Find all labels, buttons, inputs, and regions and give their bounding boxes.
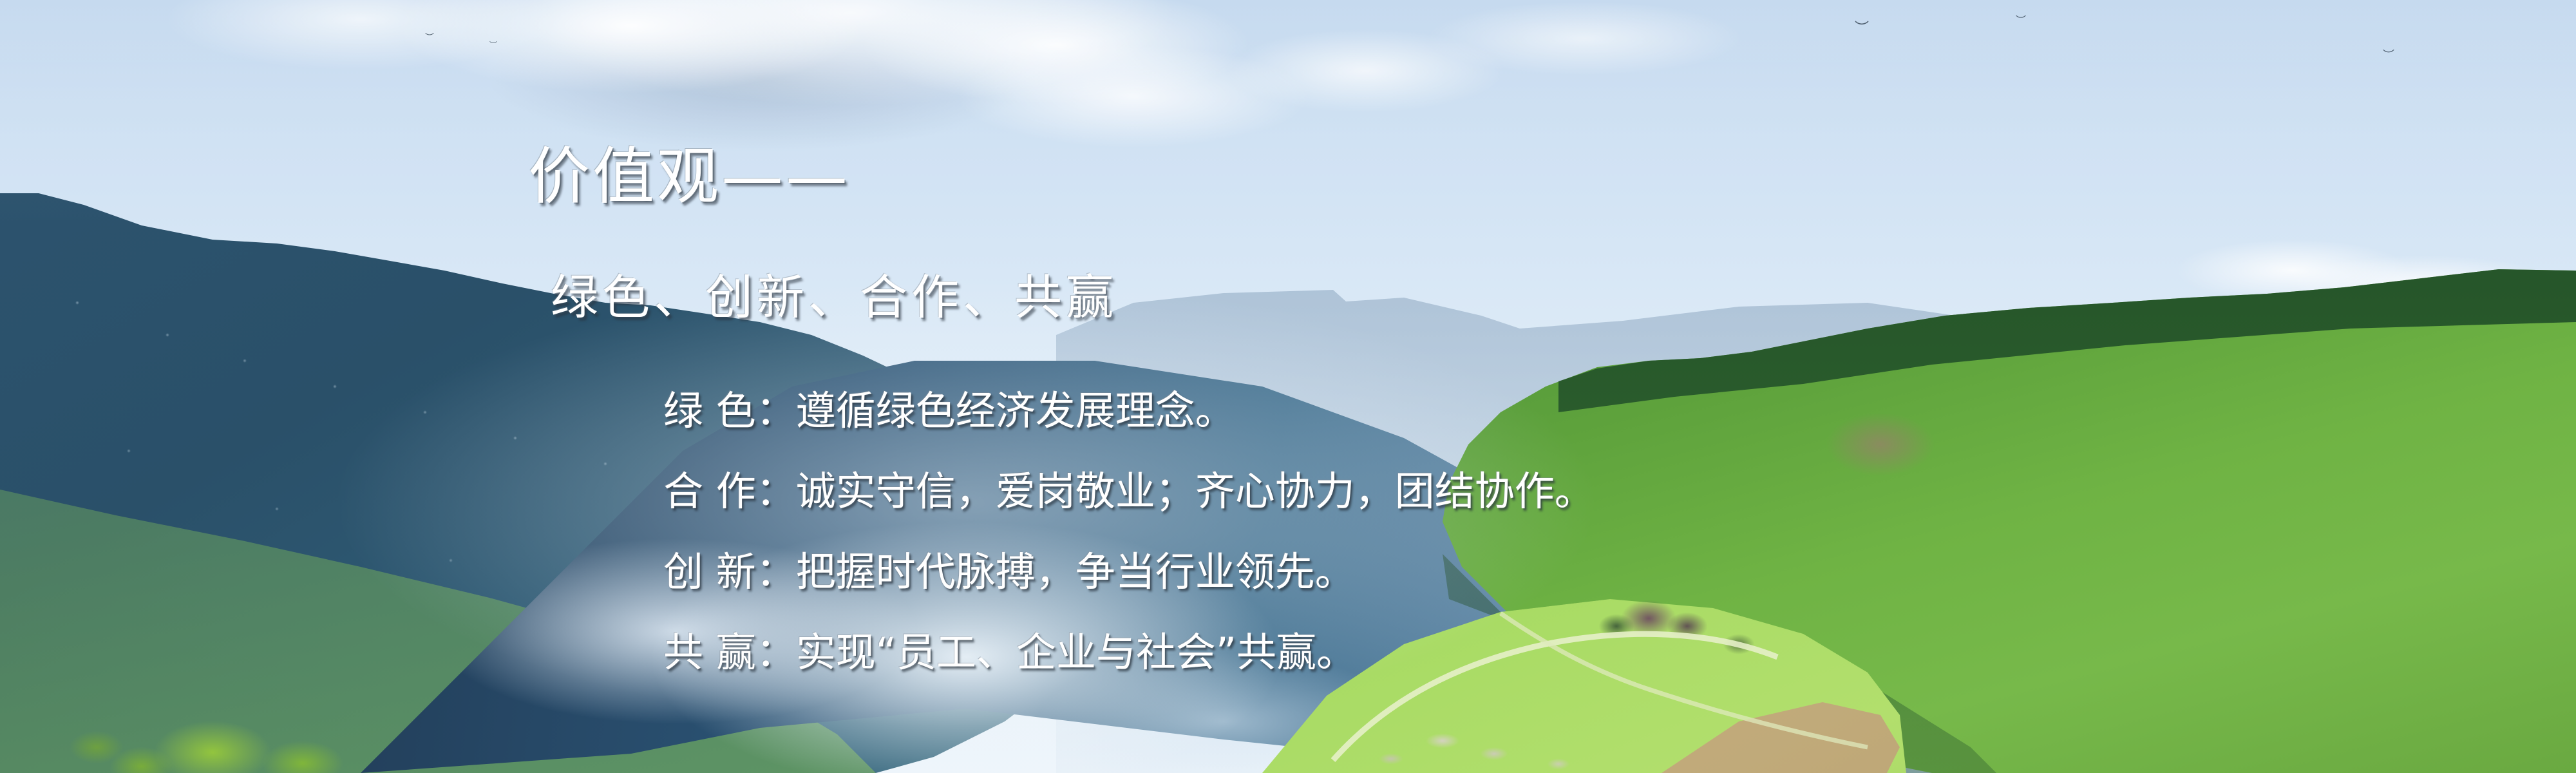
values-list: 绿 色：遵循绿色经济发展理念。 合 作：诚实守信，爱岗敬业；齐心协力，团结协作。… xyxy=(663,370,1595,692)
values-item-green: 绿 色：遵循绿色经济发展理念。 xyxy=(663,370,1595,451)
values-subtitle: 绿色、创新、合作、共赢 xyxy=(551,259,1117,328)
values-item-innovation: 创 新：把握时代脉搏，争当行业领先。 xyxy=(663,531,1595,612)
banner-stage: ︶ ︶ ︶ ︶ ︶ 价值观—— 绿色、创新、合作、共赢 绿 色：遵循绿色经济发展… xyxy=(0,0,2576,773)
bird-icon: ︶ xyxy=(2383,50,2394,62)
values-item-cooperation: 合 作：诚实守信，爱岗敬业；齐心协力，团结协作。 xyxy=(663,451,1595,531)
page-title: 价值观—— xyxy=(528,126,850,216)
bird-icon: ︶ xyxy=(425,33,434,43)
values-item-winwin: 共 赢：实现“员工、企业与社会”共赢。 xyxy=(663,612,1595,692)
bird-icon: ︶ xyxy=(1855,22,1869,36)
bird-icon: ︶ xyxy=(2016,15,2026,26)
bird-icon: ︶ xyxy=(489,41,497,49)
